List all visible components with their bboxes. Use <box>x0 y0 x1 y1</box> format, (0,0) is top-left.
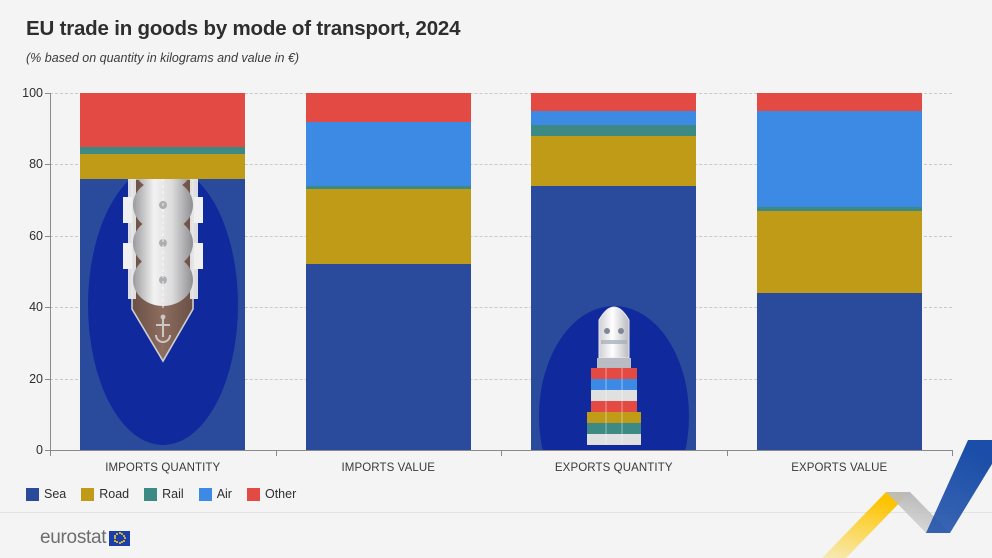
y-axis: 020406080100 <box>50 93 51 451</box>
bar-stack[interactable] <box>531 93 696 450</box>
bar-stack[interactable] <box>757 93 922 450</box>
bar-segment-rail[interactable] <box>757 207 922 211</box>
y-tick-mark <box>45 164 50 165</box>
eu-flag-icon <box>109 531 130 546</box>
bar-stack[interactable] <box>306 93 471 450</box>
bar-segment-road[interactable] <box>531 136 696 186</box>
legend-item-air[interactable]: Air <box>199 487 232 501</box>
bar-segment-air[interactable] <box>531 111 696 125</box>
y-tick-mark <box>45 307 50 308</box>
legend: SeaRoadRailAirOther <box>26 487 296 501</box>
x-tick-mark <box>50 450 51 456</box>
eu-star-icon <box>116 533 118 535</box>
bar-segment-other[interactable] <box>531 93 696 111</box>
bar-segment-sea[interactable] <box>531 186 696 450</box>
y-tick-label: 40 <box>29 300 43 314</box>
legend-swatch-icon <box>81 488 94 501</box>
eurostat-logo: eurostat <box>40 527 130 549</box>
page-subtitle: (% based on quantity in kilograms and va… <box>26 51 299 65</box>
bar-segment-air[interactable] <box>306 122 471 186</box>
bar-segment-rail[interactable] <box>531 125 696 136</box>
bar-stack[interactable] <box>80 93 245 450</box>
legend-label: Sea <box>44 487 66 501</box>
legend-label: Other <box>265 487 296 501</box>
legend-swatch-icon <box>199 488 212 501</box>
corner-decoration-icon <box>822 440 992 558</box>
y-tick-mark <box>45 379 50 380</box>
y-tick-label: 0 <box>36 443 43 457</box>
y-tick-label: 80 <box>29 157 43 171</box>
bar-segment-sea[interactable] <box>306 264 471 450</box>
y-tick-mark <box>45 236 50 237</box>
eurostat-wordmark: eurostat <box>40 527 106 549</box>
eu-star-icon <box>114 537 116 539</box>
chart-page: EU trade in goods by mode of transport, … <box>0 0 992 558</box>
y-tick-mark <box>45 93 50 94</box>
eu-star-icon <box>114 535 116 537</box>
x-axis-label: EXPORTS QUANTITY <box>555 462 673 474</box>
eu-star-icon <box>123 540 125 542</box>
x-tick-mark <box>727 450 728 456</box>
bar-segment-air[interactable] <box>757 111 922 207</box>
legend-swatch-icon <box>247 488 260 501</box>
x-tick-mark <box>276 450 277 456</box>
legend-item-other[interactable]: Other <box>247 487 296 501</box>
x-axis-label: IMPORTS VALUE <box>341 462 435 474</box>
page-title: EU trade in goods by mode of transport, … <box>26 17 460 41</box>
legend-label: Road <box>99 487 129 501</box>
eu-star-icon <box>119 542 121 544</box>
y-tick-label: 60 <box>29 229 43 243</box>
bar-segment-rail[interactable] <box>80 147 245 154</box>
plot-area <box>50 93 952 450</box>
y-tick-label: 20 <box>29 372 43 386</box>
x-axis-label: IMPORTS QUANTITY <box>105 462 220 474</box>
bar-segment-road[interactable] <box>80 154 245 179</box>
eu-star-icon <box>124 537 126 539</box>
legend-item-sea[interactable]: Sea <box>26 487 66 501</box>
bar-segment-road[interactable] <box>757 211 922 293</box>
eu-star-icon <box>116 541 118 543</box>
eu-star-icon <box>121 541 123 543</box>
bar-segment-rail[interactable] <box>306 186 471 190</box>
bar-segment-other[interactable] <box>757 93 922 111</box>
legend-item-rail[interactable]: Rail <box>144 487 184 501</box>
bar-segment-sea[interactable] <box>757 293 922 450</box>
legend-item-road[interactable]: Road <box>81 487 129 501</box>
legend-label: Air <box>217 487 232 501</box>
y-tick-label: 100 <box>22 86 43 100</box>
bar-segment-other[interactable] <box>306 93 471 122</box>
bar-segment-other[interactable] <box>80 93 245 147</box>
legend-label: Rail <box>162 487 184 501</box>
legend-swatch-icon <box>26 488 39 501</box>
x-tick-mark <box>501 450 502 456</box>
bar-segment-sea[interactable] <box>80 179 245 450</box>
bar-segment-road[interactable] <box>306 189 471 264</box>
legend-swatch-icon <box>144 488 157 501</box>
